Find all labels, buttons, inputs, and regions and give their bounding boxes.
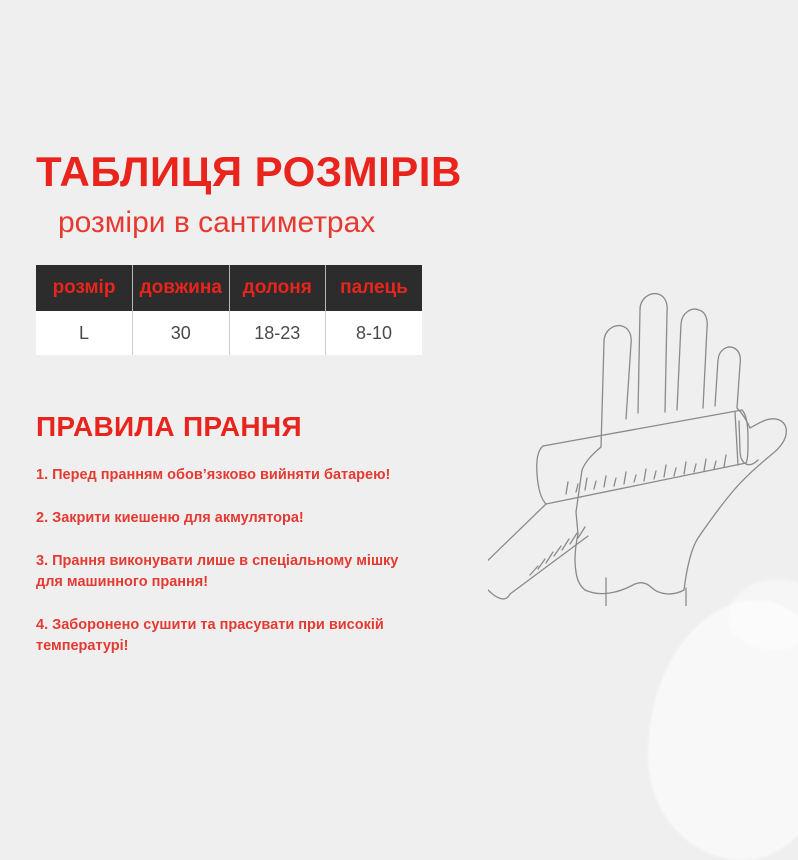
- hand-with-measuring-tape-icon: [488, 238, 792, 606]
- table-header-row: розмір довжина долоня палець: [36, 265, 422, 311]
- page-title: ТАБЛИЦЯ РОЗМІРІВ: [36, 150, 466, 194]
- hand-illustration: [488, 238, 792, 606]
- washing-rule-item-2: 2. Закрити киешеню для акмулятора!: [36, 508, 466, 529]
- page-subtitle: розміри в сантиметрах: [58, 206, 466, 239]
- size-table: розмір довжина долоня палець L 30 18-23 …: [36, 265, 422, 355]
- washing-rules-heading: ПРАВИЛА ПРАННЯ: [36, 411, 466, 443]
- table-header-cell-finger: палець: [326, 265, 423, 311]
- table-header-cell-size: розмір: [36, 265, 133, 311]
- washing-rule-item-4: 4. Заборонено сушити та прасувати при ви…: [36, 615, 466, 657]
- table-header-cell-length: довжина: [133, 265, 230, 311]
- washing-rule-item-3: 3. Прання виконувати лише в спеціальному…: [36, 551, 466, 593]
- table-cell-palm: 18-23: [229, 311, 326, 355]
- size-table-container: розмір довжина долоня палець L 30 18-23 …: [36, 265, 422, 355]
- washing-rule-item-1: 1. Перед пранням обов’язково вийняти бат…: [36, 465, 466, 486]
- table-cell-length: 30: [133, 311, 230, 355]
- table-header-cell-palm: долоня: [229, 265, 326, 311]
- size-chart-sheet: ТАБЛИЦЯ РОЗМІРІВ розміри в сантиметрах р…: [0, 0, 798, 800]
- table-row: L 30 18-23 8-10: [36, 311, 422, 355]
- washing-rules-section: ПРАВИЛА ПРАННЯ 1. Перед пранням обов’язк…: [36, 411, 466, 657]
- table-cell-finger: 8-10: [326, 311, 423, 355]
- table-cell-size: L: [36, 311, 133, 355]
- left-content-column: ТАБЛИЦЯ РОЗМІРІВ розміри в сантиметрах р…: [36, 150, 466, 657]
